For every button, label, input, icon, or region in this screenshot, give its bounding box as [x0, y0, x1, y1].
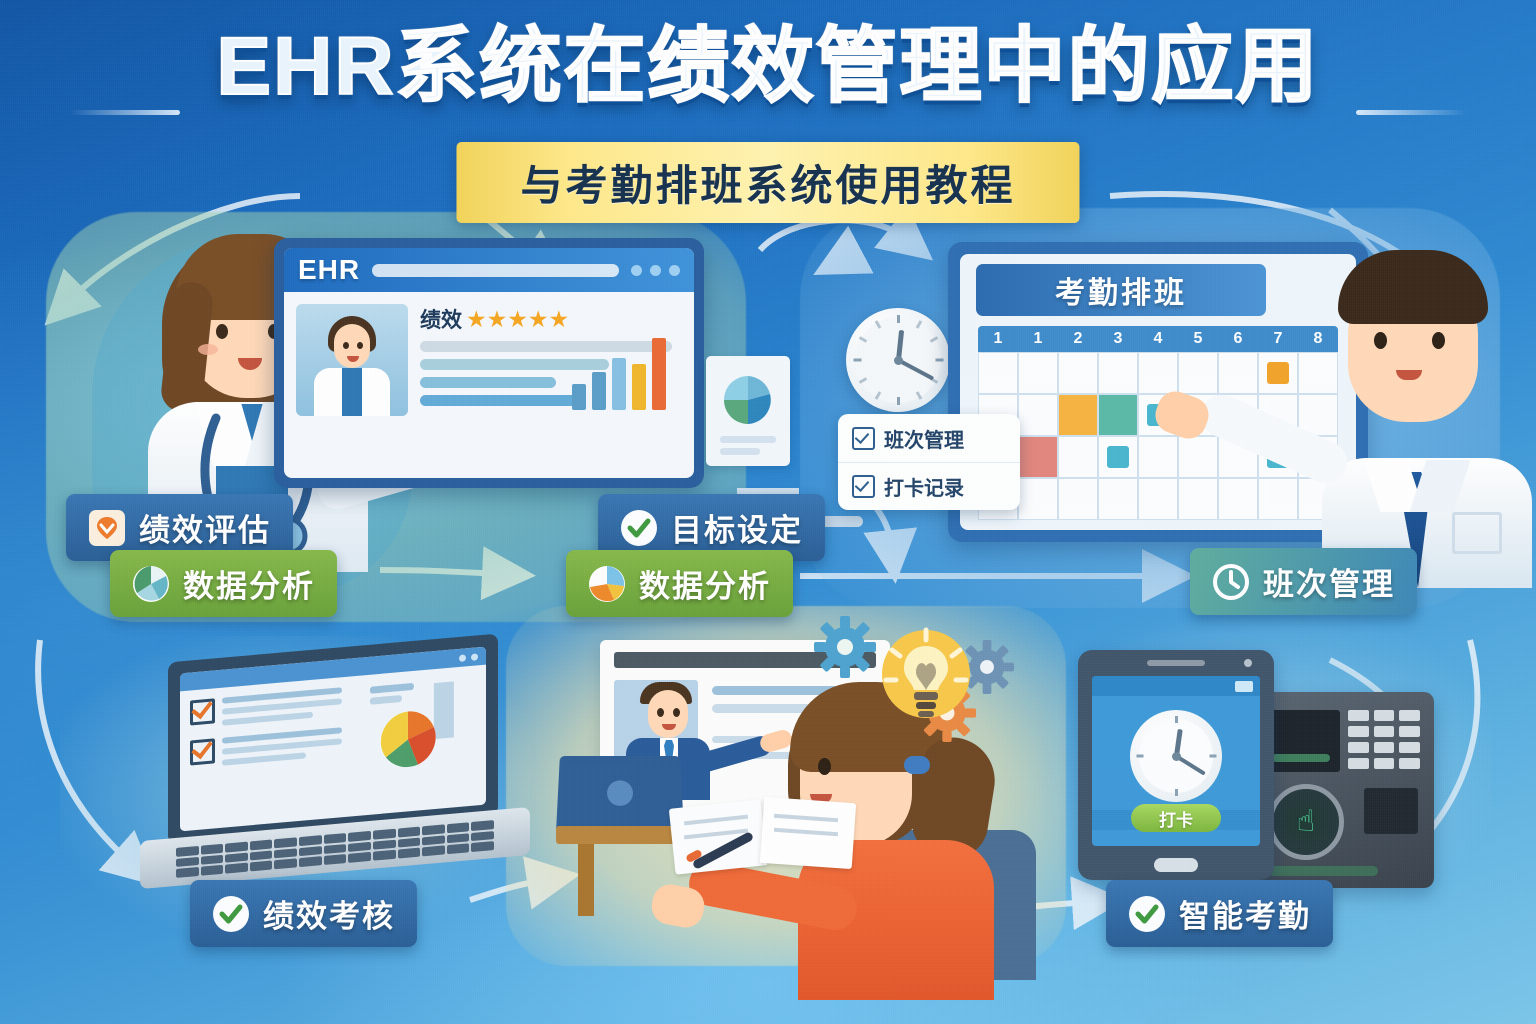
- tablet-screen: 打卡: [1092, 676, 1260, 846]
- calendar-cell[interactable]: [1138, 436, 1178, 478]
- fingerprint-icon[interactable]: ☝: [1268, 784, 1344, 860]
- punch-in-label: 打卡: [1159, 806, 1193, 831]
- attendance-tablet[interactable]: 打卡: [1078, 650, 1274, 880]
- tablet-camera-icon: [1244, 659, 1252, 667]
- wall-clock-icon: [846, 308, 950, 412]
- presenter-laptop: [556, 756, 684, 832]
- calendar-row[interactable]: [978, 352, 1338, 394]
- tablet-home-button[interactable]: [1154, 858, 1198, 872]
- pie-chart-icon: [588, 565, 626, 603]
- terminal-card-reader: [1364, 788, 1418, 834]
- laptop-lid: [168, 634, 498, 845]
- schedule-title: 考勤排班: [1055, 268, 1187, 312]
- infographic-canvas: EHR系统在绩效管理中的应用 与考勤排班系统使用教程: [0, 0, 1536, 1024]
- calendar-cell[interactable]: [1058, 352, 1098, 394]
- terminal-status-strip: [1268, 866, 1378, 876]
- window-dot-icon: [650, 265, 661, 276]
- check-circle-icon: [620, 509, 658, 547]
- checkbox-checked-icon[interactable]: [190, 738, 215, 765]
- tablet-speaker: [1147, 660, 1205, 666]
- calendar-cell[interactable]: [1178, 352, 1218, 394]
- calendar-cell[interactable]: [1138, 478, 1178, 520]
- calendar-cell[interactable]: [1018, 436, 1058, 478]
- calendar-col-header: 2: [1058, 326, 1098, 352]
- window-dot-icon: [669, 265, 680, 276]
- calendar-cell[interactable]: [1218, 352, 1258, 394]
- window-dot-icon: [631, 265, 642, 276]
- terminal-keypad[interactable]: [1348, 710, 1420, 769]
- badge-label: 绩效评估: [139, 505, 271, 550]
- calendar-cell[interactable]: [1258, 478, 1298, 520]
- badge-data-analysis-right[interactable]: 数据分析: [566, 550, 793, 617]
- calendar-cell[interactable]: [1058, 394, 1098, 436]
- badge-label: 数据分析: [183, 561, 315, 606]
- calendar-cell[interactable]: [1098, 352, 1138, 394]
- badge-performance-appraisal[interactable]: 绩效考核: [190, 880, 417, 947]
- calendar-col-header: 7: [1258, 326, 1298, 352]
- attendance-terminal[interactable]: ☝: [1246, 692, 1434, 888]
- ehr-monitor: EHR: [274, 238, 704, 488]
- calendar-cell[interactable]: [1098, 394, 1138, 436]
- title-rule-right: [1356, 110, 1466, 115]
- star-icon: ★★★★★: [466, 308, 569, 331]
- badge-label: 绩效考核: [263, 891, 395, 936]
- calendar-cell[interactable]: [1178, 436, 1218, 478]
- page-subtitle: 与考勤排班系统使用教程: [520, 152, 1015, 213]
- checkbox-checked-icon[interactable]: [852, 427, 875, 450]
- calendar-cell[interactable]: [1178, 478, 1218, 520]
- ehr-screen: EHR: [284, 248, 694, 478]
- laptop-illustration: [140, 648, 530, 878]
- calendar-cell[interactable]: [1258, 352, 1298, 394]
- calendar-cell[interactable]: [1018, 394, 1058, 436]
- battery-icon: [1235, 681, 1253, 692]
- check-circle-icon: [1128, 895, 1166, 933]
- laptop-pie-chart: [350, 675, 476, 791]
- lightbulb-icon: [870, 618, 982, 735]
- ehr-content: 绩效 ★★★★★: [284, 292, 694, 428]
- calendar-col-header: 5: [1178, 326, 1218, 352]
- badge-label: 目标设定: [671, 505, 803, 550]
- gear-icon: [814, 616, 876, 683]
- badge-label: 智能考勤: [1179, 891, 1311, 936]
- address-bar[interactable]: [372, 264, 619, 277]
- progress-bar: [420, 395, 582, 406]
- calendar-cell[interactable]: [1058, 478, 1098, 520]
- shift-checklist-card: 班次管理 打卡记录: [838, 414, 1020, 510]
- checklist-item[interactable]: 打卡记录: [838, 462, 1020, 510]
- tablet-clock-icon: [1130, 710, 1222, 802]
- calendar-cell[interactable]: [1098, 436, 1138, 478]
- checklist-label: 打卡记录: [884, 472, 964, 501]
- checkbox-checked-icon[interactable]: [852, 475, 875, 498]
- calendar-cell[interactable]: [1138, 352, 1178, 394]
- ehr-logo: EHR: [298, 254, 360, 286]
- checklist-label: 班次管理: [884, 424, 964, 453]
- calendar-row[interactable]: [978, 478, 1338, 520]
- calendar-cell[interactable]: [978, 352, 1018, 394]
- calendar-col-header: 1: [1018, 326, 1058, 352]
- progress-bar: [420, 377, 556, 388]
- checkbox-checked-icon[interactable]: [190, 698, 215, 725]
- browser-toolbar: EHR: [284, 248, 694, 292]
- title-rule-left: [70, 110, 180, 115]
- calendar-cell[interactable]: [1018, 478, 1058, 520]
- badge-label: 班次管理: [1263, 559, 1395, 604]
- calendar-col-header: 1: [978, 326, 1018, 352]
- schedule-title-bar: 考勤排班: [976, 264, 1266, 316]
- shield-heart-icon: [88, 509, 126, 547]
- punch-in-button[interactable]: 打卡: [1131, 804, 1221, 832]
- check-circle-icon: [212, 895, 250, 933]
- calendar-header-row: 1 1 2 3 4 5 6 7 8: [978, 326, 1338, 352]
- calendar-cell[interactable]: [1018, 352, 1058, 394]
- rating-label: 绩效: [420, 304, 462, 334]
- badge-shift-management[interactable]: 班次管理: [1190, 548, 1417, 615]
- staff-illustration: [1300, 236, 1530, 566]
- pie-chart-icon: [132, 565, 170, 603]
- window-dots: [631, 265, 680, 276]
- performance-rating: 绩效 ★★★★★: [420, 304, 682, 334]
- checklist-item[interactable]: 班次管理: [838, 414, 1020, 462]
- subtitle-banner: 与考勤排班系统使用教程: [456, 142, 1079, 223]
- calendar-col-header: 6: [1218, 326, 1258, 352]
- calendar-cell[interactable]: [1218, 478, 1258, 520]
- laptop-screen: [180, 647, 486, 832]
- calendar-cell[interactable]: [1098, 478, 1138, 520]
- report-document: [706, 356, 790, 466]
- badge-label: 数据分析: [639, 561, 771, 606]
- badge-smart-attendance[interactable]: 智能考勤: [1106, 880, 1333, 947]
- desk-leg: [578, 844, 594, 916]
- calendar-col-header: 3: [1098, 326, 1138, 352]
- header: EHR系统在绩效管理中的应用: [0, 24, 1536, 110]
- clock-icon: [1212, 563, 1250, 601]
- employee-avatar: [296, 304, 408, 416]
- badge-data-analysis-left[interactable]: 数据分析: [110, 550, 337, 617]
- calendar-col-header: 4: [1138, 326, 1178, 352]
- page-title: EHR系统在绩效管理中的应用: [216, 24, 1319, 110]
- calendar-cell[interactable]: [1058, 436, 1098, 478]
- performance-bar-chart: [572, 340, 666, 410]
